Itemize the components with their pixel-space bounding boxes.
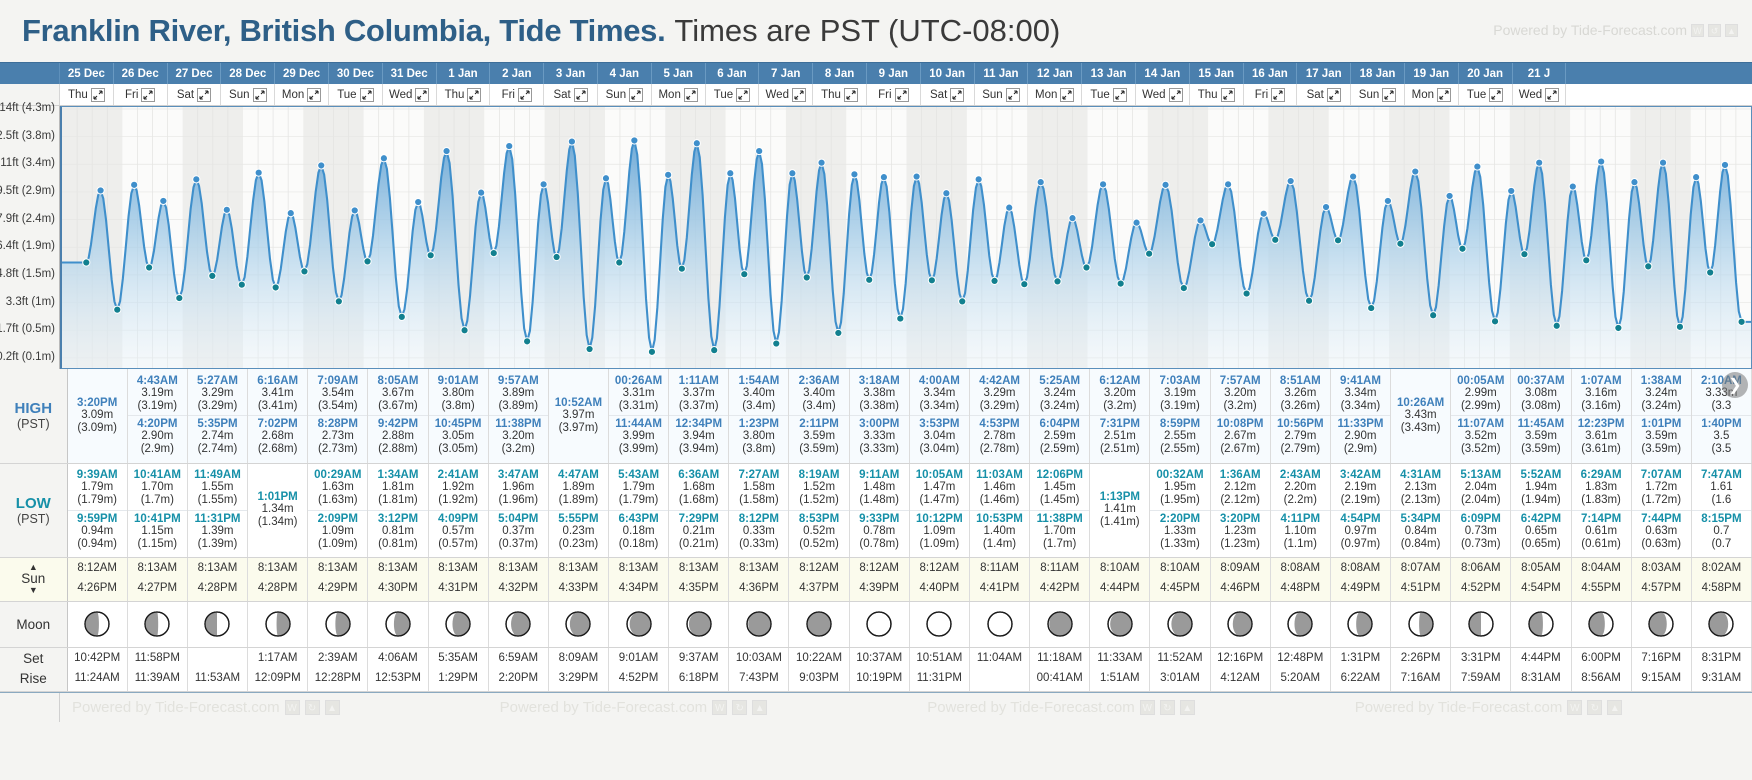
tide-height-alt: (1.92m): [429, 494, 488, 507]
moonset-time: 10:51AM: [910, 649, 969, 669]
date-header-cell[interactable]: 28 Dec: [221, 63, 275, 84]
tide-time: 4:47AM: [549, 469, 608, 481]
tide-time: 7:47AM: [1692, 469, 1751, 481]
weekday-label: Wed: [766, 89, 789, 101]
tide-height: 1.70m: [1030, 525, 1089, 538]
low-tide-event: 7:14PM0.61m(0.61m): [1572, 510, 1631, 553]
low-tide-event: 2:09PM1.09m(1.09m): [308, 510, 367, 553]
tide-height: 3.31m: [609, 387, 668, 400]
tide-height-alt: (3.59m): [1632, 443, 1691, 456]
date-header-cell[interactable]: 27 Dec: [168, 63, 222, 84]
high-tide-event: 7:03AM3.19m(3.19m): [1150, 373, 1209, 415]
weekday-label: Wed: [1519, 89, 1542, 101]
low-tide-cell: 6:36AM1.68m(1.68m)7:29PM0.21m(0.21m): [669, 463, 729, 557]
moonrise-time: 12:09PM: [248, 669, 307, 689]
moonrise-time: 8:31AM: [1511, 669, 1570, 689]
date-header-cell[interactable]: 9 Jan: [867, 63, 921, 84]
moon-phase-cell: [1210, 601, 1270, 647]
tide-height-alt: (0.84m): [1391, 538, 1450, 551]
low-tide-cell: 00:29AM1.63m(1.63m)2:09PM1.09m(1.09m): [308, 463, 368, 557]
moonrise-time: 6:22AM: [1331, 669, 1390, 689]
tide-time: 7:14PM: [1572, 513, 1631, 525]
moon-setrise-cell: 3:31PM7:59AM: [1451, 647, 1511, 691]
weekday-header-cell[interactable]: Wed: [1136, 84, 1190, 105]
moon-phase-cell: [428, 601, 488, 647]
tide-time: 9:41AM: [1331, 375, 1390, 387]
tide-height: 3.08m: [1511, 387, 1570, 400]
weekday-header-cell[interactable]: Mon: [1405, 84, 1459, 105]
date-header-cell[interactable]: 11 Jan: [975, 63, 1029, 84]
high-tide-event: 00:26AM3.31m(3.31m): [609, 373, 668, 415]
date-header-cell[interactable]: 25 Dec: [60, 63, 114, 84]
weekday-header-cell[interactable]: Sat: [1297, 84, 1351, 105]
weekday-header-cell[interactable]: Tue: [329, 84, 383, 105]
tide-height-alt: (0.23m): [549, 538, 608, 551]
moonset-time: 11:52AM: [1150, 649, 1209, 669]
sun-cell: 8:13AM4:36PM: [729, 557, 789, 601]
weekday-header-cell[interactable]: Thu: [437, 84, 491, 105]
low-tide-event: 5:04PM0.37m(0.37m): [489, 510, 548, 553]
high-tide-event: 1:54AM3.40m(3.4m): [729, 373, 788, 415]
tide-height: 1.58m: [729, 481, 788, 494]
expand-icon[interactable]: [736, 88, 750, 102]
weekday-header-cell[interactable]: Tue: [706, 84, 760, 105]
weekday-header-cell[interactable]: Wed: [759, 84, 813, 105]
moon-phase-icon: [1166, 610, 1194, 638]
expand-icon[interactable]: [844, 88, 858, 102]
date-header-cell[interactable]: 17 Jan: [1297, 63, 1351, 84]
tide-height-alt: (1.79m): [68, 494, 127, 507]
sunset-time: 4:27PM: [128, 579, 187, 599]
expand-icon[interactable]: [467, 88, 481, 102]
low-tide-event: 4:54PM0.97m(0.97m): [1331, 510, 1390, 553]
alert-icon: ▲: [325, 700, 340, 715]
weekday-header-cell[interactable]: Tue: [1082, 84, 1136, 105]
tide-time: 11:49AM: [188, 469, 247, 481]
sunset-time: 4:48PM: [1271, 579, 1330, 599]
expand-icon[interactable]: [1489, 88, 1503, 102]
tide-height-alt: (3.4m): [789, 400, 848, 413]
low-tide-event: 4:47AM1.89m(1.89m): [549, 467, 608, 509]
tide-height-alt: (0.21m): [669, 538, 728, 551]
low-tide-event: 5:13AM2.04m(2.04m): [1451, 467, 1510, 509]
chart-plot-area[interactable]: [60, 106, 1752, 369]
tide-time: 6:04PM: [1030, 418, 1089, 430]
weekday-header-cell[interactable]: Sat: [544, 84, 598, 105]
low-tide-cell: 6:29AM1.83m(1.83m)7:14PM0.61m(0.61m): [1571, 463, 1631, 557]
tide-height: 0.21m: [669, 525, 728, 538]
high-tide-cell: 3:20PM3.09m(3.09m): [67, 369, 127, 463]
sun-cell: 8:11AM4:42PM: [1030, 557, 1090, 601]
tide-time: 1:36AM: [1211, 469, 1270, 481]
page-title: Franklin River, British Columbia, Tide T…: [22, 13, 665, 49]
sunset-time: 4:40PM: [910, 579, 969, 599]
expand-icon[interactable]: [197, 88, 211, 102]
weekday-label: Thu: [68, 89, 88, 101]
high-tide-cell: 4:00AM3.34m(3.34m)3:53PM3.04m(3.04m): [909, 369, 969, 463]
sunset-time: 4:51PM: [1391, 579, 1450, 599]
moon-phase-row: Moon: [0, 601, 1752, 647]
low-tide-event: 9:39AM1.79m(1.79m): [68, 467, 127, 509]
footer-corner: [0, 692, 60, 722]
tide-height-alt: (1.79m): [609, 494, 668, 507]
date-header-cell[interactable]: 14 Jan: [1136, 63, 1190, 84]
weekday-header-cell[interactable]: Sun: [1351, 84, 1405, 105]
weekday-header-cell[interactable]: Tue: [1459, 84, 1513, 105]
tide-time: 9:59PM: [68, 513, 127, 525]
low-tide-event: 11:49AM1.55m(1.55m): [188, 467, 247, 509]
moonrise-time: 4:52PM: [609, 669, 668, 689]
tide-time: 2:43AM: [1271, 469, 1330, 481]
moon-phase-icon: [1647, 610, 1675, 638]
weekday-header-cell[interactable]: Wed: [1513, 84, 1567, 105]
y-axis-tick-label: 12.5ft (3.8m): [0, 130, 55, 142]
weekday-header-cell[interactable]: Fri: [1244, 84, 1298, 105]
weekday-header-cell[interactable]: Sun: [975, 84, 1029, 105]
sunset-time: 4:32PM: [489, 579, 548, 599]
tide-height: 3.33m: [850, 430, 909, 443]
tide-height: 1.96m: [489, 481, 548, 494]
date-header-cell[interactable]: 1 Jan: [437, 63, 491, 84]
weekday-header-cell[interactable]: Fri: [490, 84, 544, 105]
sunrise-time: 8:07AM: [1391, 559, 1450, 579]
expand-icon[interactable]: [1327, 88, 1341, 102]
moonset-time: 5:35AM: [429, 649, 488, 669]
tide-height: 1.83m: [1572, 481, 1631, 494]
expand-icon[interactable]: [1060, 88, 1074, 102]
low-tide-event: 2:20PM1.33m(1.33m): [1150, 510, 1209, 553]
tide-time: 7:44PM: [1632, 513, 1691, 525]
high-tide-event: 8:59PM2.55m(2.55m): [1150, 415, 1209, 458]
date-header-cell[interactable]: 8 Jan: [813, 63, 867, 84]
low-tide-event: 3:20PM1.23m(1.23m): [1211, 510, 1270, 553]
date-header-cell[interactable]: 21 J: [1513, 63, 1567, 84]
date-header-cell[interactable]: 4 Jan: [598, 63, 652, 84]
low-tide-event: 7:44PM0.63m(0.63m): [1632, 510, 1691, 553]
weekday-label: Sun: [982, 89, 1002, 101]
tide-time: 7:31PM: [1090, 418, 1149, 430]
high-tide-event: 5:27AM3.29m(3.29m): [188, 373, 247, 415]
expand-icon[interactable]: [415, 88, 429, 102]
weekday-header-cell[interactable]: Sat: [168, 84, 222, 105]
moon-phase-cell: [1270, 601, 1330, 647]
tide-time: 12:06PM: [1030, 469, 1089, 481]
weekday-label: Wed: [389, 89, 412, 101]
low-tide-cell: 10:41AM1.70m(1.7m)10:41PM1.15m(1.15m): [127, 463, 187, 557]
tide-height: 3.24m: [1632, 387, 1691, 400]
weekday-label: Fri: [125, 89, 138, 101]
tide-time: 1:40PM: [1692, 418, 1751, 430]
low-tide-event: 3:12PM0.81m(0.81m): [368, 510, 427, 553]
moon-setrise-cell: 1:17AM12:09PM: [248, 647, 308, 691]
expand-icon[interactable]: [1006, 88, 1020, 102]
moon-setrise-cell: 8:09AM3:29PM: [548, 647, 608, 691]
refresh-icon: ↻: [1160, 700, 1175, 715]
tide-height: 3.19m: [128, 387, 187, 400]
low-tide-event: 9:11AM1.48m(1.48m): [850, 467, 909, 509]
powered-by-text: Powered by Tide-Forecast.com: [72, 699, 280, 716]
moon-phase-cell: [669, 601, 729, 647]
expand-icon[interactable]: [360, 88, 374, 102]
tide-height-alt: (0.57m): [429, 538, 488, 551]
tide-height-alt: (3.19m): [128, 400, 187, 413]
expand-icon[interactable]: [1437, 88, 1451, 102]
moon-setrise-cell: 10:51AM11:31PM: [909, 647, 969, 691]
tide-height: 1.63m: [308, 481, 367, 494]
moonset-time: 11:04AM: [970, 649, 1029, 669]
expand-icon[interactable]: [1113, 88, 1127, 102]
date-header-cell[interactable]: 26 Dec: [114, 63, 168, 84]
low-tide-cell: 4:31AM2.13m(2.13m)5:34PM0.84m(0.84m): [1391, 463, 1451, 557]
tide-time: 5:52AM: [1511, 469, 1570, 481]
tide-height: 0.81m: [368, 525, 427, 538]
sunrise-time: 8:13AM: [609, 559, 668, 579]
moonrise-time: 11:39AM: [128, 669, 187, 689]
moonset-time: 10:03AM: [729, 649, 788, 669]
moon-phase-icon: [1286, 610, 1314, 638]
moon-phase-icon: [1346, 610, 1374, 638]
sunset-time: 4:39PM: [850, 579, 909, 599]
tide-height: 3.16m: [1572, 387, 1631, 400]
tide-time: 2:09PM: [308, 513, 367, 525]
date-header-cell[interactable]: 31 Dec: [383, 63, 437, 84]
tide-height-alt: (3.3: [1692, 400, 1751, 413]
scroll-right-icon[interactable]: ❯: [1722, 372, 1748, 398]
sun-cell: 8:04AM4:55PM: [1571, 557, 1631, 601]
date-header-cell[interactable]: 2 Jan: [490, 63, 544, 84]
weekday-header-cell[interactable]: Sun: [221, 84, 275, 105]
low-tide-cell: 7:47AM1.61(1.68:15PM0.7(0.7: [1691, 463, 1751, 557]
tide-height-alt: (0.63m): [1632, 538, 1691, 551]
date-header-cell[interactable]: 30 Dec: [329, 63, 383, 84]
tide-height: 2.19m: [1331, 481, 1390, 494]
low-tide-event: 6:42PM0.65m(0.65m): [1511, 510, 1570, 553]
date-header-cell[interactable]: 20 Jan: [1459, 63, 1513, 84]
expand-icon[interactable]: [950, 88, 964, 102]
moonset-time: 12:48PM: [1271, 649, 1330, 669]
low-tide-event: 8:53PM0.52m(0.52m): [789, 510, 848, 553]
weekday-header-cell[interactable]: Mon: [652, 84, 706, 105]
tide-height-alt: (1.47m): [910, 494, 969, 507]
sunrise-time: 8:12AM: [789, 559, 848, 579]
date-header-cell[interactable]: 16 Jan: [1244, 63, 1298, 84]
high-tide-event: 4:53PM2.78m(2.78m): [970, 415, 1029, 458]
high-tide-cell: 5:25AM3.24m(3.24m)6:04PM2.59m(2.59m): [1030, 369, 1090, 463]
tide-height: 3.37m: [669, 387, 728, 400]
tide-height-alt: (2.12m): [1211, 494, 1270, 507]
tide-height: 3.38m: [850, 387, 909, 400]
moonset-time: 2:26PM: [1391, 649, 1450, 669]
tide-height-alt: (3.52m): [1451, 443, 1510, 456]
tide-height-alt: (1.95m): [1150, 494, 1209, 507]
date-header-cell[interactable]: 5 Jan: [652, 63, 706, 84]
tide-height: 1.34m: [248, 503, 307, 516]
tide-height: 0.63m: [1632, 525, 1691, 538]
tide-height: 3.34m: [910, 387, 969, 400]
moonrise-time: 00:41AM: [1030, 669, 1089, 689]
low-tide-event: 11:03AM1.46m(1.46m): [970, 467, 1029, 509]
tide-time: 11:31PM: [188, 513, 247, 525]
moon-set-rise-row: Set Rise 10:42PM11:24AM11:58PM11:39AM 11…: [0, 647, 1752, 691]
expand-icon[interactable]: [1382, 88, 1396, 102]
low-label: LOW: [0, 495, 67, 512]
tide-height-alt: (2.74m): [188, 443, 247, 456]
sun-cell: 8:13AM4:32PM: [488, 557, 548, 601]
tide-height-alt: (0.61m): [1572, 538, 1631, 551]
tide-height: 1.61: [1692, 481, 1751, 494]
moonrise-time: 9:03PM: [789, 669, 848, 689]
moonset-time: 11:58PM: [128, 649, 187, 669]
low-tide-event: 8:15PM0.7(0.7: [1692, 510, 1751, 553]
expand-icon[interactable]: [253, 88, 267, 102]
moon-setrise-cell: 6:59AM2:20PM: [488, 647, 548, 691]
tide-time: 3:42AM: [1331, 469, 1390, 481]
weekday-header-cell[interactable]: Thu: [1190, 84, 1244, 105]
date-header-cell[interactable]: 15 Jan: [1190, 63, 1244, 84]
high-tide-cell: 00:05AM2.99m(2.99m)11:07AM3.52m(3.52m): [1451, 369, 1511, 463]
tide-height-alt: (3.19m): [1150, 400, 1209, 413]
moon-phase-cell: [609, 601, 669, 647]
tide-time: 4:20PM: [128, 418, 187, 430]
tide-height-alt: (2.51m): [1090, 443, 1149, 456]
tide-time: 2:11PM: [789, 418, 848, 430]
weekday-label: Wed: [1142, 89, 1165, 101]
sunset-time: 4:46PM: [1211, 579, 1270, 599]
sun-row: ▲ Sun ▼ 8:12AM4:26PM8:13AM4:27PM8:13AM4:…: [0, 557, 1752, 601]
date-header-cell[interactable]: 19 Jan: [1405, 63, 1459, 84]
tide-height-alt: (0.73m): [1451, 538, 1510, 551]
moonset-time: 11:18AM: [1030, 649, 1089, 669]
weekday-header-cell[interactable]: Mon: [275, 84, 329, 105]
low-tide-event: 10:41AM1.70m(1.7m): [128, 467, 187, 509]
moonset-time: 4:06AM: [368, 649, 427, 669]
moon-phase-cell: [1691, 601, 1751, 647]
tide-height: 0.65m: [1511, 525, 1570, 538]
high-tide-event: 1:11AM3.37m(3.37m): [669, 373, 728, 415]
date-header-cell[interactable]: 12 Jan: [1028, 63, 1082, 84]
sun-cell: 8:13AM4:30PM: [368, 557, 428, 601]
tide-height: 2.59m: [1030, 430, 1089, 443]
moon-setrise-cell: 12:48PM5:20AM: [1270, 647, 1330, 691]
high-tide-event: 4:42AM3.29m(3.29m): [970, 373, 1029, 415]
date-header-cell[interactable]: 6 Jan: [706, 63, 760, 84]
date-header-cell[interactable]: 29 Dec: [275, 63, 329, 84]
tide-time: 10:41AM: [128, 469, 187, 481]
tide-height: 3.40m: [789, 387, 848, 400]
weekday-header-cell[interactable]: Thu: [60, 84, 114, 105]
expand-icon[interactable]: [307, 88, 321, 102]
moon-phase-cell: [548, 601, 608, 647]
expand-icon[interactable]: [141, 88, 155, 102]
moon-phase-icon: [324, 610, 352, 638]
sun-cell: 8:02AM4:58PM: [1691, 557, 1751, 601]
date-header-cell[interactable]: 10 Jan: [921, 63, 975, 84]
tide-time: 1:07AM: [1572, 375, 1631, 387]
tide-time: 3:20PM: [1211, 513, 1270, 525]
weekday-label: Sun: [229, 89, 249, 101]
weekday-label: Mon: [1035, 89, 1057, 101]
sunrise-time: 8:03AM: [1632, 559, 1691, 579]
high-tide-event: 4:20PM2.90m(2.9m): [128, 415, 187, 458]
sunrise-time: 8:13AM: [669, 559, 728, 579]
expand-icon[interactable]: [792, 88, 806, 102]
high-tide-event: 10:56PM2.79m(2.79m): [1271, 415, 1330, 458]
weekday-header-cell[interactable]: Sun: [598, 84, 652, 105]
tide-height-alt: (2.99m): [1451, 400, 1510, 413]
moon-setrise-cell: 5:35AM1:29PM: [428, 647, 488, 691]
moonset-time: 2:39AM: [308, 649, 367, 669]
tide-height: 3.97m: [549, 409, 608, 422]
tide-height: 3.59m: [1511, 430, 1570, 443]
tide-time: 11:33PM: [1331, 418, 1390, 430]
sun-cell: 8:10AM4:44PM: [1090, 557, 1150, 601]
alert-icon: ▲: [1725, 24, 1738, 37]
expand-icon[interactable]: [629, 88, 643, 102]
tide-time: 8:53PM: [789, 513, 848, 525]
date-header-cell[interactable]: 13 Jan: [1082, 63, 1136, 84]
low-tide-event: 6:09PM0.73m(0.73m): [1451, 510, 1510, 553]
expand-icon[interactable]: [895, 88, 909, 102]
tide-time: 6:42PM: [1511, 513, 1570, 525]
expand-icon[interactable]: [1545, 88, 1559, 102]
date-header-cell[interactable]: 7 Jan: [759, 63, 813, 84]
weekday-header-cell[interactable]: Fri: [867, 84, 921, 105]
high-tide-event: 4:00AM3.34m(3.34m): [910, 373, 969, 415]
moonrise-time: 4:12AM: [1211, 669, 1270, 689]
tide-time: 11:44AM: [609, 418, 668, 430]
weekday-label: Fri: [1255, 89, 1268, 101]
expand-icon[interactable]: [1169, 88, 1183, 102]
sunrise-time: 8:02AM: [1692, 559, 1751, 579]
weekday-header-cell[interactable]: Sat: [921, 84, 975, 105]
powered-by-text: Powered by Tide-Forecast.com: [927, 699, 1135, 716]
low-tide-event: 9:59PM0.94m(0.94m): [68, 510, 127, 553]
expand-icon[interactable]: [684, 88, 698, 102]
expand-icon[interactable]: [518, 88, 532, 102]
tide-height-alt: (1.45m): [1030, 494, 1089, 507]
tide-height-alt: (3.61m): [1572, 443, 1631, 456]
weekday-header-cell[interactable]: Fri: [114, 84, 168, 105]
sun-cell: 8:13AM4:35PM: [669, 557, 729, 601]
weekday-header-cell[interactable]: Mon: [1028, 84, 1082, 105]
expand-icon[interactable]: [91, 88, 105, 102]
y-axis-tick-label: 4.8ft (1.5m): [0, 268, 55, 280]
moonrise-time: 7:59AM: [1451, 669, 1510, 689]
weekday-label: Sat: [1307, 89, 1324, 101]
date-header-cell[interactable]: 3 Jan: [544, 63, 598, 84]
tide-height: 1.89m: [549, 481, 608, 494]
date-header-cell[interactable]: 18 Jan: [1351, 63, 1405, 84]
sun-cell: 8:12AM4:26PM: [67, 557, 127, 601]
moonset-time: 1:17AM: [248, 649, 307, 669]
expand-icon[interactable]: [1271, 88, 1285, 102]
high-tide-event: 2:11PM3.59m(3.59m): [789, 415, 848, 458]
moonrise-time: 11:24AM: [68, 669, 127, 689]
low-tide-event: 6:29AM1.83m(1.83m): [1572, 467, 1631, 509]
high-tide-cell: 8:51AM3.26m(3.26m)10:56PM2.79m(2.79m): [1270, 369, 1330, 463]
expand-icon[interactable]: [1221, 88, 1235, 102]
tide-height-alt: (1.46m): [970, 494, 1029, 507]
moonset-time: 9:01AM: [609, 649, 668, 669]
tide-height-alt: (3.04m): [910, 443, 969, 456]
tide-time: 00:26AM: [609, 375, 668, 387]
weekday-header-cell[interactable]: Wed: [383, 84, 437, 105]
tide-time: 7:03AM: [1150, 375, 1209, 387]
moon-phase-cell: [1030, 601, 1090, 647]
expand-icon[interactable]: [574, 88, 588, 102]
tide-height: 0.57m: [429, 525, 488, 538]
weekday-header-cell[interactable]: Thu: [813, 84, 867, 105]
